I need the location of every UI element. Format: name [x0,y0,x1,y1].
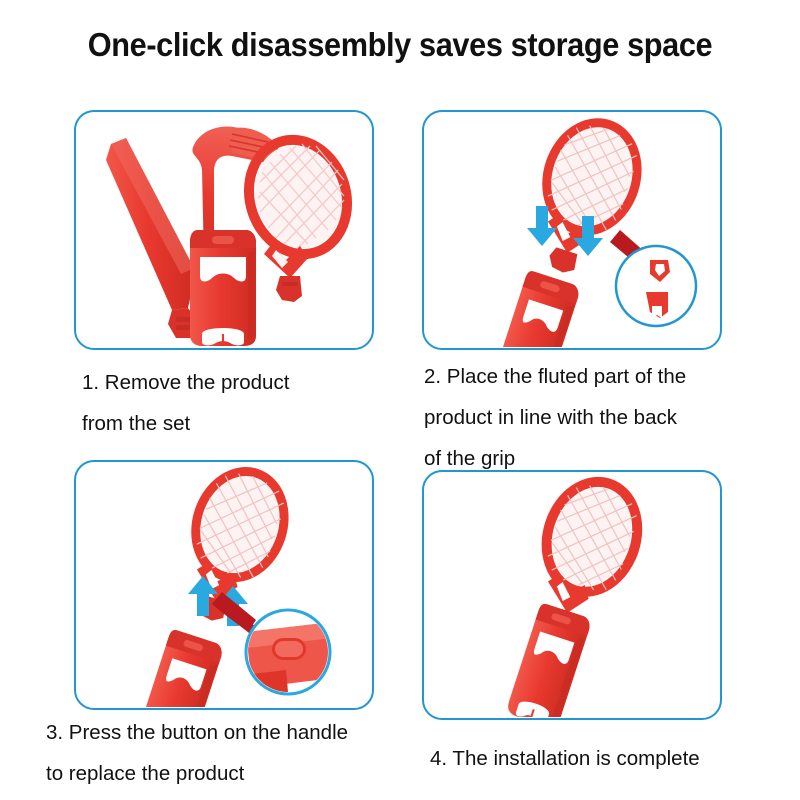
sword-accessory [106,138,200,338]
step-3-illustration [76,462,371,707]
joy-con-grip [494,270,582,347]
step-3-caption: 3. Press the button on the handle to rep… [46,712,348,794]
caption-line: 3. Press the button on the handle [46,712,348,753]
step-3-panel [74,460,374,710]
caption-line: 4. The installation is complete [430,738,700,779]
step-1-panel [74,110,374,350]
joy-con-grip [136,629,224,707]
step-4-caption: 4. The installation is complete [430,738,700,779]
step-4-panel [422,470,722,720]
joy-con-grip [190,230,256,346]
infographic-root: One-click disassembly saves storage spac… [0,0,800,800]
page-title: One-click disassembly saves storage spac… [28,26,772,64]
assembled-tennis-racket [490,472,651,717]
step-1-illustration [76,112,371,347]
caption-line: 1. Remove the product [82,362,289,403]
step-2-illustration [424,112,719,347]
step-2-panel [422,110,722,350]
release-button-detail [246,610,334,694]
caption-line: from the set [82,403,289,444]
caption-line: to replace the product [46,753,348,794]
step-2-caption: 2. Place the fluted part of the product … [424,356,686,479]
step-4-illustration [424,472,719,717]
caption-line: product in line with the back [424,397,686,438]
step-1-caption: 1. Remove the product from the set [82,362,289,444]
caption-line: 2. Place the fluted part of the [424,356,686,397]
fluted-connector-detail [616,246,696,326]
caption-line: of the grip [424,438,686,479]
